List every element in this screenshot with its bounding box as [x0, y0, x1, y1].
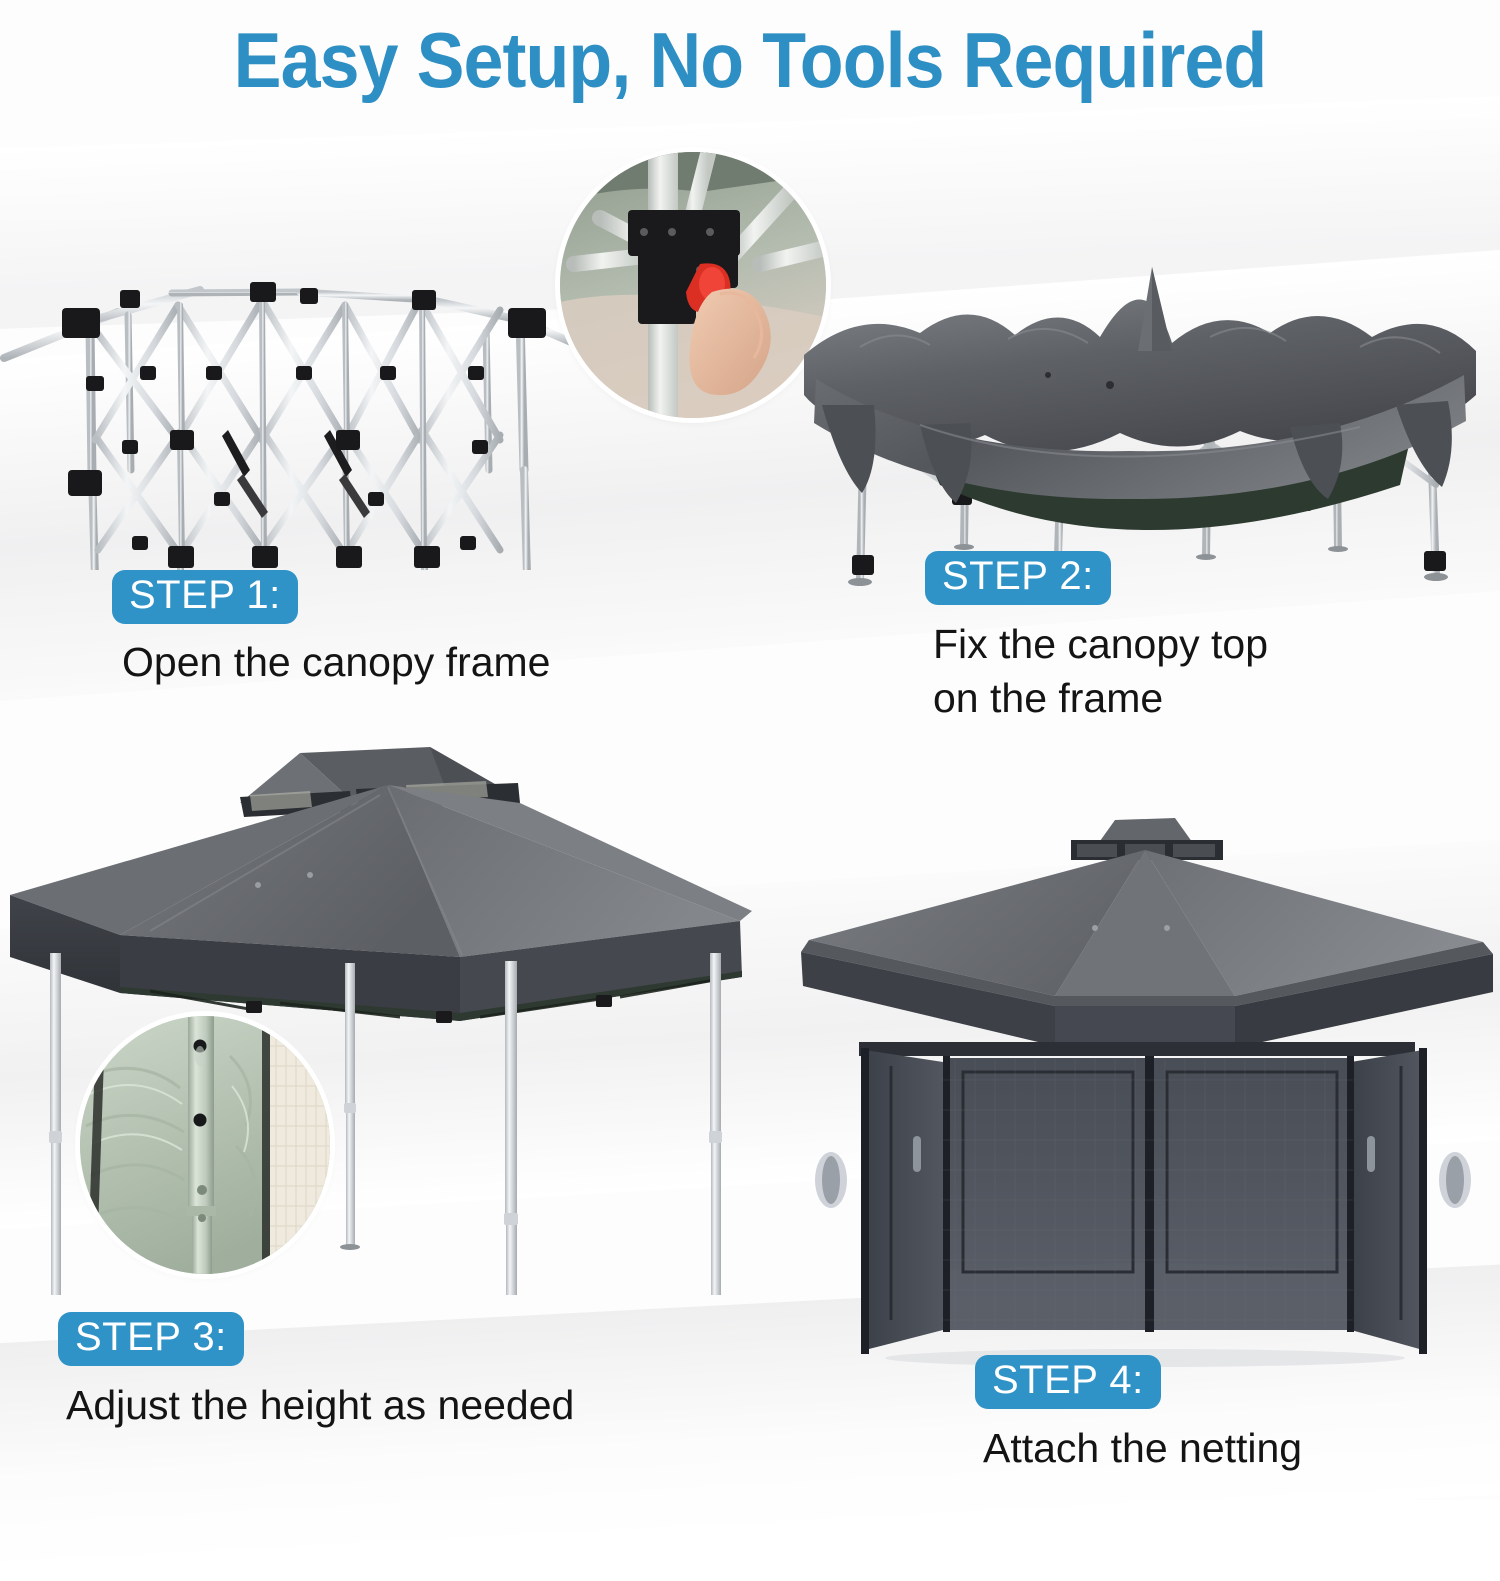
step-4-photo [795, 810, 1495, 1370]
step-3-caption: Adjust the height as needed [66, 1378, 574, 1432]
step-1-joint-detail-inset [560, 152, 826, 418]
step-3-badge: STEP 3: [58, 1312, 244, 1366]
step-2-photo [800, 255, 1480, 615]
infographic-page: Easy Setup, No Tools Required [0, 0, 1500, 1500]
step-2-badge: STEP 2: [925, 551, 1111, 605]
step-2-caption: Fix the canopy top on the frame [933, 617, 1268, 725]
page-title: Easy Setup, No Tools Required [60, 14, 1440, 106]
step-1-badge: STEP 1: [112, 570, 298, 624]
step-4-badge: STEP 4: [975, 1355, 1161, 1409]
step-3-leg-detail-inset [80, 1016, 330, 1274]
step-1-photo [0, 140, 580, 570]
step-1-caption: Open the canopy frame [122, 635, 550, 689]
step-4-caption: Attach the netting [983, 1421, 1302, 1475]
